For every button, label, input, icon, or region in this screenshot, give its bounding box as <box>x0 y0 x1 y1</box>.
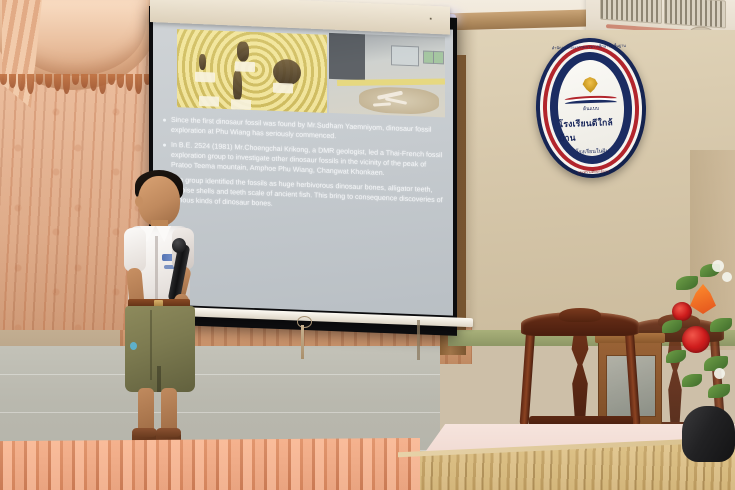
specimen-label-card <box>231 99 251 110</box>
ac-grille-right <box>664 0 726 28</box>
chair-back-splat <box>565 328 595 424</box>
bullet-dot-icon <box>163 119 166 122</box>
curtain-tassel <box>81 74 88 88</box>
white-filler-flower <box>714 368 725 379</box>
flower-vase <box>682 406 735 462</box>
student-presenter <box>110 170 210 460</box>
flower-leaf <box>666 350 686 363</box>
shorts-pleat <box>150 310 152 380</box>
white-filler-flower <box>722 272 732 282</box>
fossil-ammonite <box>273 59 301 86</box>
plaque-line1: ต้นแบบ <box>583 105 600 114</box>
flower-arrangement <box>660 258 735 416</box>
site-window <box>433 51 444 64</box>
plaque-arc-top-text: สำนักงานคณะกรรมการการศึกษาขั้นพื้นฐาน <box>544 42 635 79</box>
curtain-tassel <box>117 74 124 88</box>
curtain-tassel <box>63 74 70 94</box>
ac-grille-left <box>600 0 662 24</box>
curtain-tassel <box>9 74 16 88</box>
red-rose <box>682 326 710 353</box>
slide-photo-group <box>177 29 445 117</box>
presenter-ear <box>135 196 143 207</box>
curtain-tassel <box>72 74 79 85</box>
chair-stile-right <box>625 326 641 426</box>
site-shadow-area <box>329 33 365 80</box>
chair-crest-ornament <box>559 308 601 322</box>
flower-leaf <box>662 320 682 333</box>
slide-bullet-text: The group identified the fossils as huge… <box>171 175 448 216</box>
shorts-pocket-tag <box>130 342 137 350</box>
curtain-tassel <box>45 74 52 88</box>
curtain-tassel <box>90 74 97 91</box>
specimen-label-card <box>199 96 219 107</box>
red-rose <box>672 302 692 321</box>
fossil-specimen <box>237 41 249 61</box>
curtain-tassel <box>27 74 34 94</box>
curtain-tassel <box>54 74 61 91</box>
curtain-tassel <box>36 74 43 85</box>
floor-tile-line <box>0 412 440 413</box>
curtain-tassel <box>18 74 25 91</box>
boot-cuff-left <box>132 428 157 437</box>
presenter-head <box>138 176 180 226</box>
auditorium-presentation-photo: ■ <box>0 0 735 490</box>
shirt-placket <box>155 236 158 300</box>
flower-leaf <box>708 384 730 398</box>
curtain-tassel <box>0 74 7 85</box>
specimen-label-card <box>195 72 215 83</box>
plaque-line3: โรงเรียนในฝัน <box>576 147 609 156</box>
screen-pull-ring[interactable] <box>297 316 312 328</box>
garuda-emblem-icon <box>581 77 600 93</box>
chair-stile-left <box>520 326 536 426</box>
fossil-specimen <box>199 54 206 70</box>
housing-brand-label: ■ <box>430 17 432 21</box>
flower-leaf <box>710 318 732 332</box>
flower-leaf <box>682 374 702 387</box>
screen-side-cord[interactable] <box>417 320 420 360</box>
floor-tile-line <box>0 374 440 375</box>
boot-cuff-right <box>156 428 181 437</box>
curtain-tassel <box>99 74 106 94</box>
white-filler-flower <box>712 260 724 272</box>
plaque-line2: โรงเรียนดีใกล้บ้าน <box>558 115 625 145</box>
shorts-inseam <box>157 366 161 392</box>
orange-lily <box>690 284 716 314</box>
curtain-tassel <box>108 74 115 85</box>
curtain-tassel <box>135 74 142 94</box>
stage-front-pleated-skirt <box>0 438 420 490</box>
wooden-chair-front <box>521 312 639 436</box>
screen-pull-cord[interactable] <box>301 325 304 359</box>
specimen-label-card <box>235 61 255 72</box>
slide-photo-excavation-site <box>329 33 445 117</box>
flower-leaf <box>676 276 698 290</box>
curtain-tassel-trim <box>0 74 160 96</box>
slide-bullet-text: In B.E. 2524 (1981) Mr.Choengchai Krikon… <box>171 140 448 181</box>
shirt-sleeve-left <box>124 228 146 272</box>
specimen-label-card <box>273 83 293 94</box>
slide-photo-fossil-display <box>177 29 327 113</box>
fossil-specimen <box>233 69 242 99</box>
bullet-dot-icon <box>163 144 166 147</box>
school-award-plaque: ต้นแบบ โรงเรียนดีใกล้บ้าน โรงเรียนในฝัน … <box>534 36 649 180</box>
curtain-tassel <box>126 74 133 91</box>
site-safety-rail <box>337 79 445 87</box>
tricolor-swoosh <box>565 95 617 103</box>
site-window <box>391 45 419 66</box>
